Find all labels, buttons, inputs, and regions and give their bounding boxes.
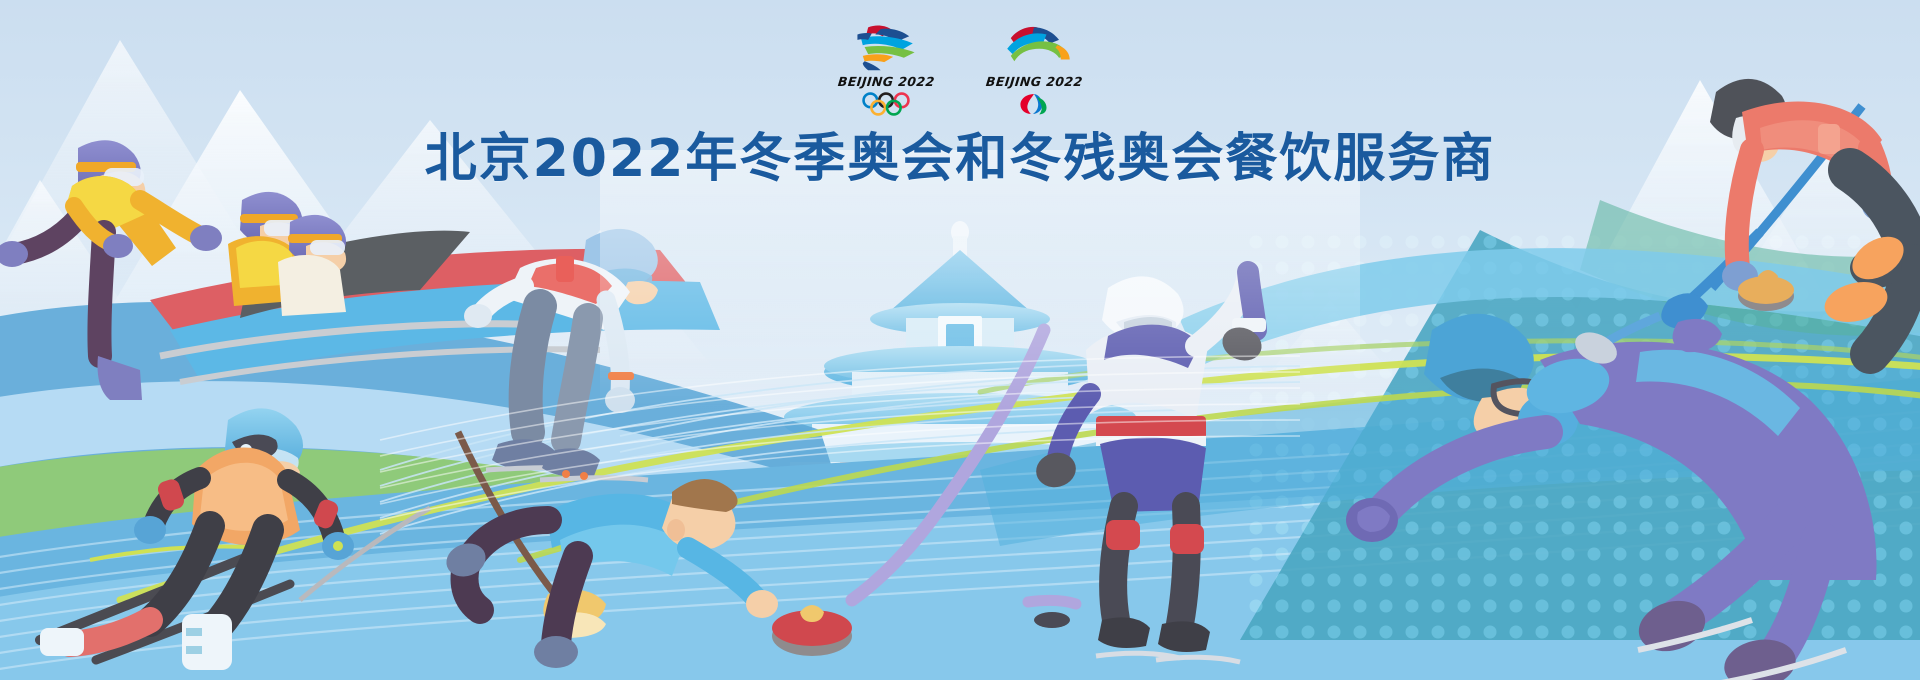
olympic-emblem: BEIJING 2022 xyxy=(834,22,938,116)
alpine-skier xyxy=(40,408,430,670)
olympic-rings xyxy=(850,92,922,116)
paralympic-agitos xyxy=(1002,92,1066,116)
olympic-banner: BEIJING 2022 BEIJING 2022 xyxy=(0,0,1920,680)
beijing-2022-winter-olympics-emblem xyxy=(840,22,932,72)
ice-hockey-player xyxy=(852,272,1266,662)
page-title: 北京2022年冬季奥会和冬残奥会餐饮服务商 xyxy=(0,116,1920,191)
speed-skater-right xyxy=(1346,314,1876,680)
beijing-2022-winter-paralympics-emblem xyxy=(988,22,1080,72)
olympic-wordmark: BEIJING 2022 xyxy=(837,74,935,89)
paralympic-emblem: BEIJING 2022 xyxy=(982,22,1086,116)
emblem-row: BEIJING 2022 BEIJING 2022 xyxy=(0,22,1920,116)
paralympic-wordmark: BEIJING 2022 xyxy=(985,74,1083,89)
